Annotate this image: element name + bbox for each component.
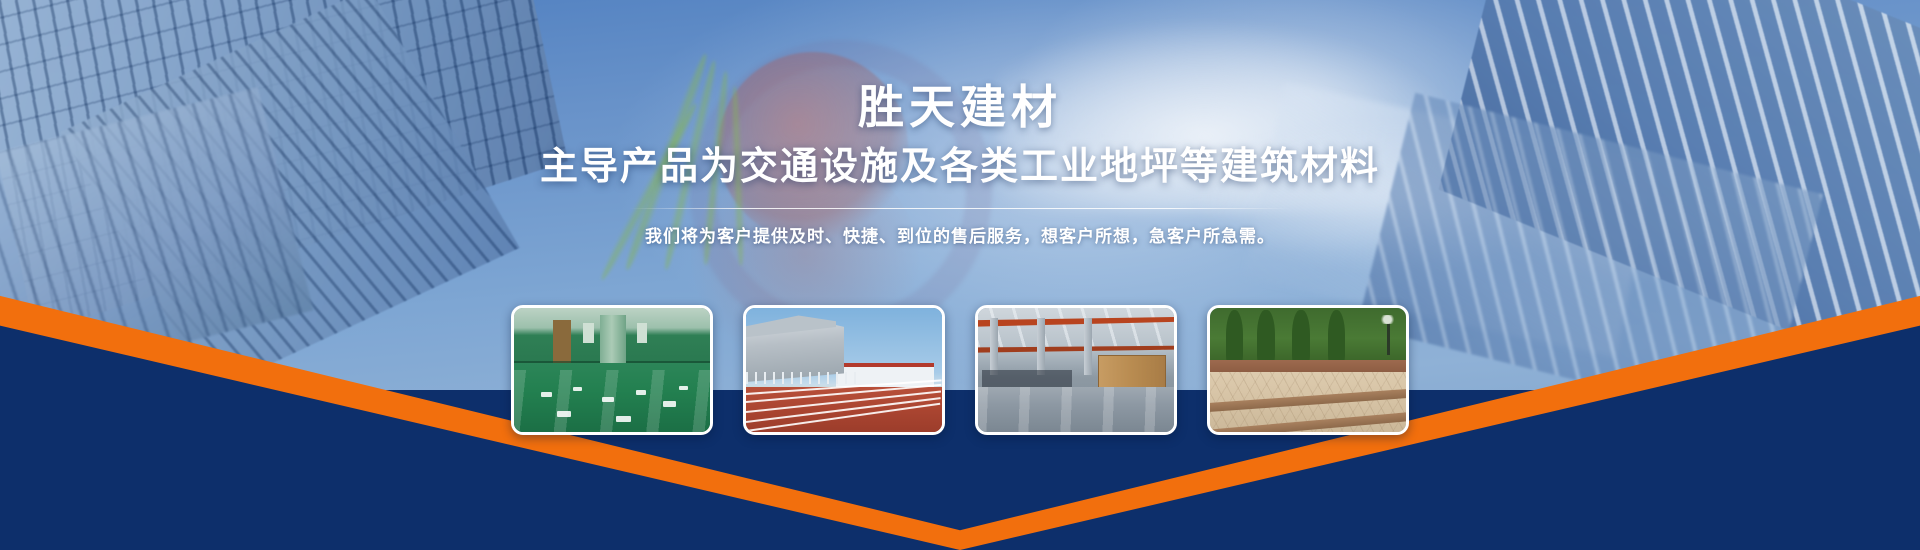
thumb1-floor-marking bbox=[679, 386, 688, 390]
thumb1-floor-marking bbox=[616, 416, 631, 422]
thumb2-railing bbox=[746, 372, 856, 383]
green-epoxy-floor-thumbnail[interactable] bbox=[511, 305, 713, 435]
thumb3-floor-gloss bbox=[978, 387, 1174, 432]
thumb1-floor-marking bbox=[602, 397, 614, 402]
thumb4-lamp-head bbox=[1379, 315, 1397, 324]
thumb1-window bbox=[637, 323, 647, 343]
thumb1-floor-marking bbox=[636, 390, 646, 395]
thumb1-window bbox=[583, 323, 595, 343]
thumb4-cypress-tree bbox=[1226, 310, 1244, 365]
thumb1-floor-marking bbox=[541, 392, 552, 397]
stamped-concrete-plaza-thumbnail[interactable] bbox=[1207, 305, 1409, 435]
stadium-running-track-thumbnail[interactable] bbox=[743, 305, 945, 435]
thumb3-column bbox=[1084, 318, 1092, 375]
banner-subtitle: 我们将为客户提供及时、快捷、到位的售后服务，想客户所想，急客户所急需。 bbox=[0, 222, 1920, 247]
thumb1-floor-marking bbox=[573, 387, 582, 391]
banner-headline: 主导产品为交通设施及各类工业地坪等建筑材料 bbox=[0, 146, 1920, 190]
thumb1-door bbox=[553, 320, 571, 362]
thumb3-column bbox=[990, 318, 998, 375]
thumbnail-strip bbox=[511, 305, 1409, 435]
thumb3-column bbox=[1037, 318, 1045, 375]
thumb4-cypress-tree bbox=[1328, 310, 1346, 365]
hero-banner: 胜天建材 主导产品为交通设施及各类工业地坪等建筑材料 我们将为客户提供及时、快捷… bbox=[0, 0, 1920, 550]
thumb4-cypress-tree bbox=[1257, 310, 1275, 365]
thumb1-floor-marking bbox=[557, 411, 571, 417]
brand-title: 胜天建材 bbox=[0, 84, 1920, 130]
divider-rule bbox=[630, 208, 1290, 209]
thumb3-wooden-crate bbox=[1098, 355, 1167, 389]
thumb3-roof-truss bbox=[978, 308, 1174, 350]
banner-text-block: 胜天建材 主导产品为交通设施及各类工业地坪等建筑材料 我们将为客户提供及时、快捷… bbox=[0, 0, 1920, 247]
thumb4-cypress-tree bbox=[1292, 310, 1310, 365]
industrial-warehouse-floor-thumbnail[interactable] bbox=[975, 305, 1177, 435]
thumb1-floor-marking bbox=[663, 401, 676, 407]
